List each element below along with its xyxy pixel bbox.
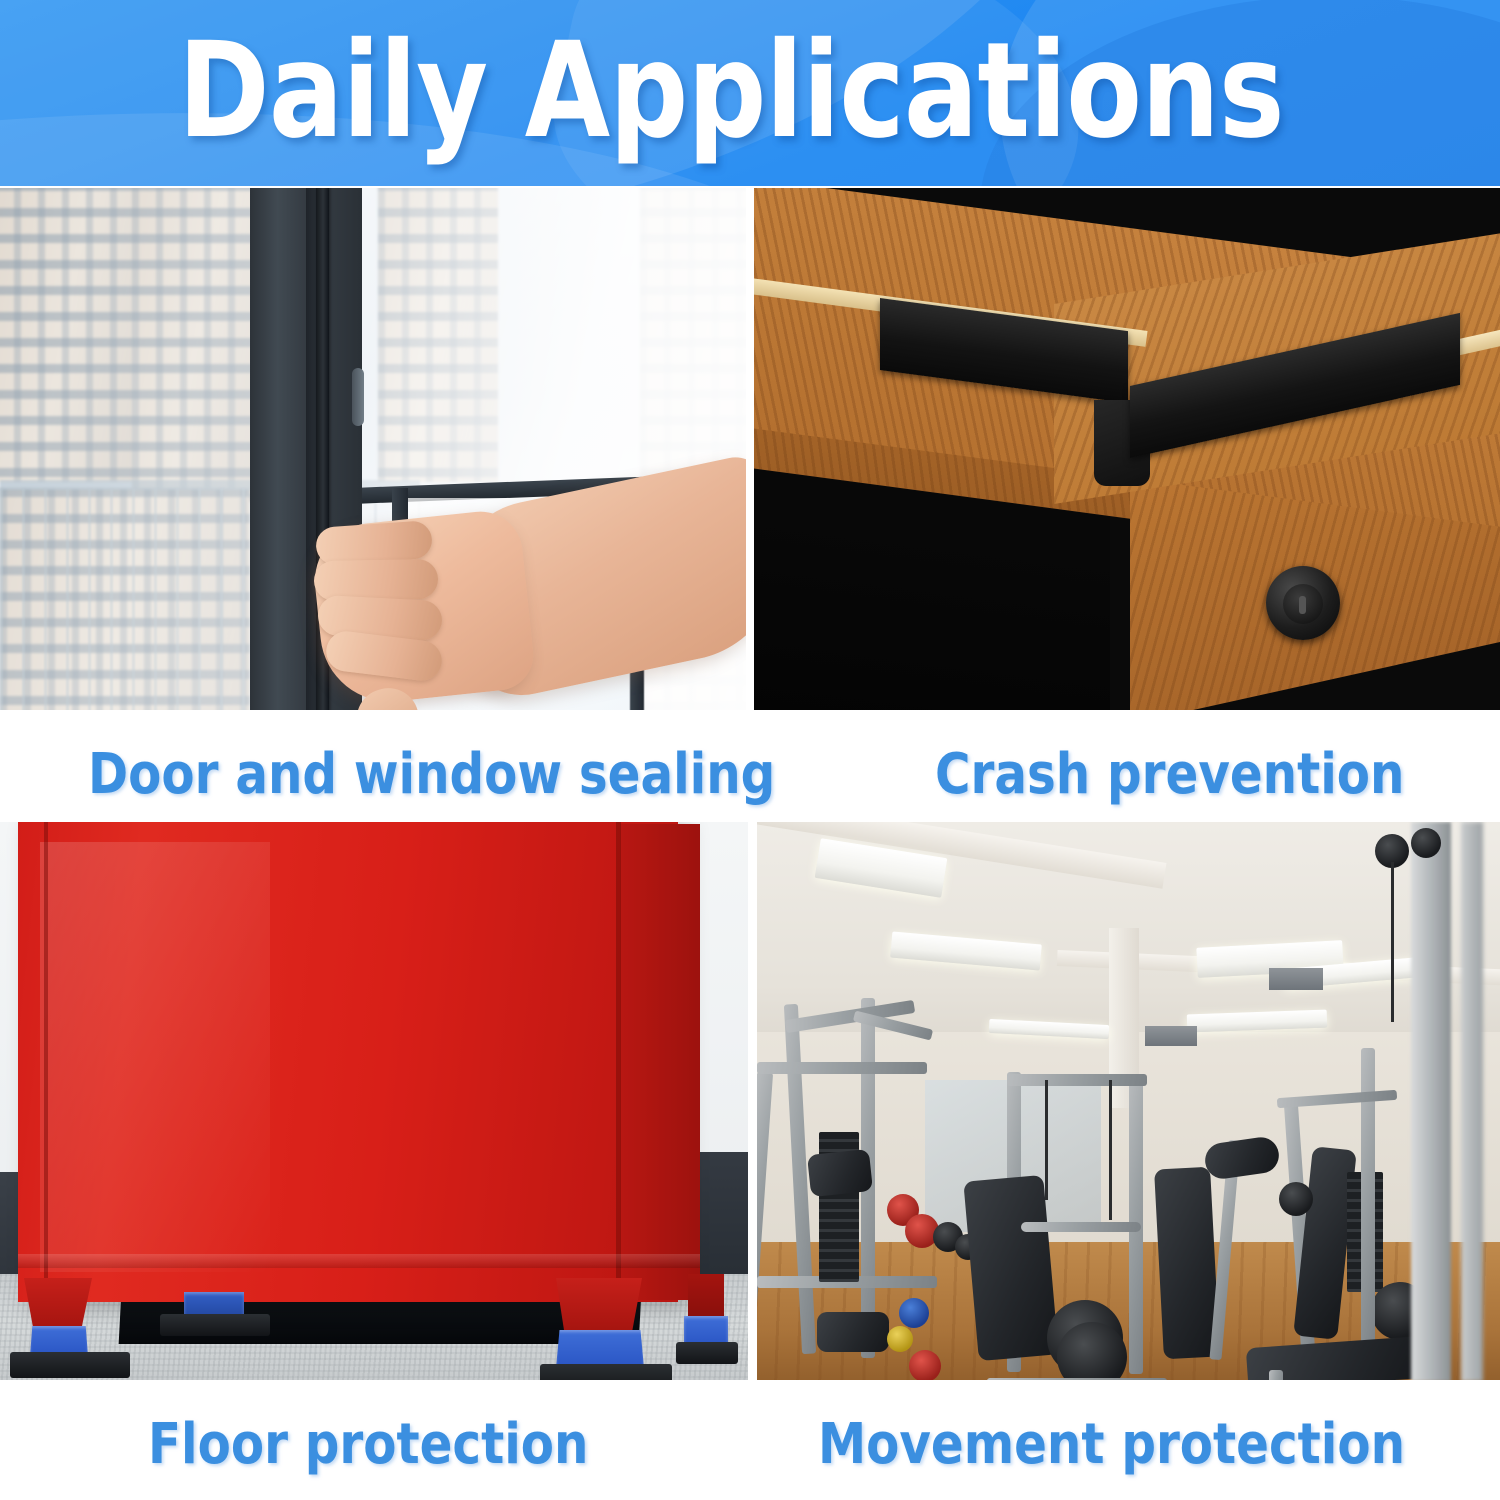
finger [314, 559, 439, 601]
window-sealing-scene [0, 188, 746, 710]
black-protective-pad [676, 1342, 738, 1364]
foreground-bench-leg [1269, 1370, 1283, 1380]
ceiling-vent [1145, 1026, 1197, 1046]
weight-plate [899, 1298, 929, 1328]
weight-plate [887, 1326, 913, 1352]
ceiling-vent [1269, 968, 1323, 990]
machine-seat-pad [807, 1149, 873, 1197]
cabinet-leg [24, 1278, 92, 1330]
weight-plate [1279, 1182, 1313, 1216]
foreground-post [1411, 822, 1451, 1380]
photo-crash-prevention [754, 188, 1500, 710]
weight-plate [909, 1350, 941, 1380]
window-latch [352, 368, 364, 426]
barbell-bar [1021, 1222, 1141, 1232]
black-protective-pad [540, 1364, 672, 1380]
machine-back-pad [817, 1312, 889, 1352]
photo-movement-protection [757, 822, 1500, 1380]
page-title: Daily Applications [178, 16, 1406, 166]
cabinet-bottom-lip [18, 1254, 700, 1268]
desk-corner-scene [754, 188, 1500, 710]
cabinet-seam [616, 822, 621, 1302]
cabinet-scene [0, 822, 748, 1380]
bench-pad [1154, 1167, 1220, 1360]
caption-door-window-sealing: Door and window sealing [88, 742, 775, 807]
cabinet-seam [44, 822, 48, 1302]
caption-movement-protection: Movement protection [818, 1412, 1405, 1477]
black-protective-pad [10, 1352, 130, 1378]
photo-door-window-sealing [0, 188, 746, 710]
photo-floor-protection [0, 822, 748, 1380]
cabinet-leg [556, 1278, 642, 1334]
gym-machine-crossbar [757, 1062, 927, 1074]
red-cabinet-side [620, 824, 700, 1300]
machine-cable [1391, 862, 1394, 1022]
foreground-post [1461, 822, 1483, 1380]
gym-scene [757, 822, 1500, 1380]
gym-machine-base [987, 1378, 1167, 1380]
machine-cable [1109, 1080, 1112, 1220]
drawer-lock-keyhole [1299, 596, 1306, 614]
caption-floor-protection: Floor protection [148, 1412, 588, 1477]
caption-crash-prevention: Crash prevention [935, 742, 1404, 807]
cabinet-sheen [40, 842, 270, 1272]
blue-furniture-pad [556, 1330, 644, 1368]
machine-back-pad [963, 1175, 1058, 1361]
header-banner: Daily Applications [0, 0, 1500, 186]
black-protective-pad [160, 1314, 270, 1336]
cable-weight-ball [1411, 828, 1441, 858]
infographic-page: Daily Applications [0, 0, 1500, 1500]
machine-cable [1045, 1080, 1048, 1200]
gym-machine-crossbar [1007, 1074, 1147, 1086]
cabinet-leg [688, 1274, 724, 1322]
